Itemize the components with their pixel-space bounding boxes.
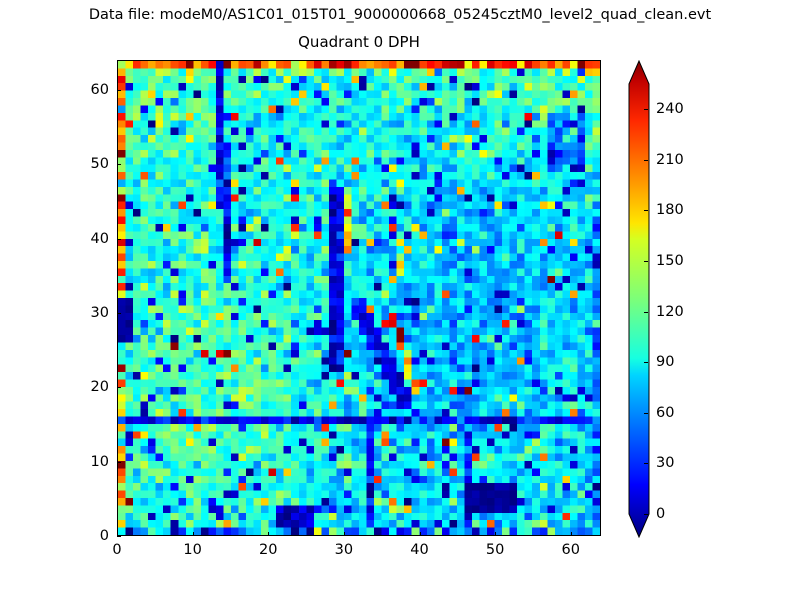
y-tick-label: 0 <box>49 528 109 544</box>
y-tick-label: 60 <box>49 82 109 98</box>
y-tick-mark <box>117 536 121 537</box>
y-tick-label: 40 <box>49 231 109 247</box>
x-tick-label: 0 <box>87 542 147 558</box>
detector-plane-axes[interactable] <box>117 60 601 536</box>
x-tick-label: 10 <box>163 542 223 558</box>
x-tick-label: 50 <box>465 542 525 558</box>
colorbar-tick-mark <box>644 514 648 515</box>
y-tick-label: 30 <box>49 305 109 321</box>
plot-title: Quadrant 0 DPH <box>117 33 601 52</box>
colorbar-tick-label: 150 <box>656 253 684 269</box>
x-tick-mark <box>571 532 572 536</box>
colorbar-tick-label: 210 <box>656 152 684 168</box>
x-tick-label: 60 <box>541 542 601 558</box>
colorbar-tick-label: 180 <box>656 202 684 218</box>
x-tick-mark <box>193 532 194 536</box>
colorbar-tick-label: 240 <box>656 101 684 117</box>
matplotlib-figure: Data file: modeM0/AS1C01_015T01_90000006… <box>0 0 800 600</box>
x-tick-mark <box>268 532 269 536</box>
colorbar-tick-mark <box>644 160 648 161</box>
x-tick-mark <box>344 532 345 536</box>
colorbar-tick-mark <box>644 413 648 414</box>
y-tick-mark <box>117 313 121 314</box>
y-tick-mark <box>117 239 121 240</box>
colorbar-tick-mark <box>644 109 648 110</box>
x-tick-mark <box>420 532 421 536</box>
colorbar-tick-label: 120 <box>656 304 684 320</box>
colorbar-tick-mark <box>644 312 648 313</box>
y-tick-mark <box>117 387 121 388</box>
x-tick-label: 40 <box>390 542 450 558</box>
colorbar[interactable] <box>628 60 650 538</box>
colorbar-tick-label: 30 <box>656 455 674 471</box>
y-tick-label: 10 <box>49 454 109 470</box>
colorbar-tick-label: 90 <box>656 354 674 370</box>
y-tick-mark <box>117 164 121 165</box>
colorbar-tick-mark <box>644 261 648 262</box>
colorbar-gradient <box>628 60 650 538</box>
y-tick-label: 50 <box>49 156 109 172</box>
x-tick-label: 20 <box>238 542 298 558</box>
y-tick-label: 20 <box>49 379 109 395</box>
colorbar-tick-mark <box>644 463 648 464</box>
detector-heatmap-image[interactable] <box>118 61 600 535</box>
data-file-suptitle: Data file: modeM0/AS1C01_015T01_90000006… <box>0 6 800 24</box>
colorbar-tick-mark <box>644 210 648 211</box>
colorbar-tick-label: 0 <box>656 506 665 522</box>
colorbar-tick-mark <box>644 362 648 363</box>
colorbar-tick-label: 60 <box>656 405 674 421</box>
x-tick-mark <box>495 532 496 536</box>
y-tick-mark <box>117 462 121 463</box>
y-tick-mark <box>117 90 121 91</box>
x-tick-label: 30 <box>314 542 374 558</box>
